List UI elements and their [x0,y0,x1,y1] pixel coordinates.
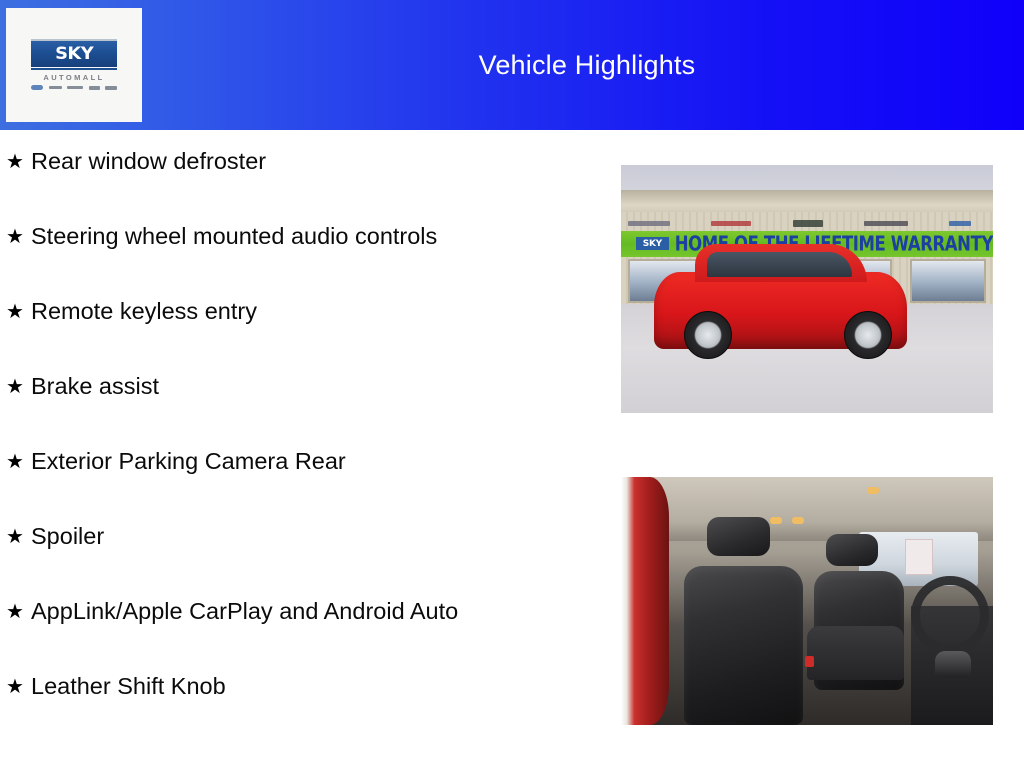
feature-label: Remote keyless entry [30,296,257,327]
vehicle-exterior-photo[interactable]: SKY HOME OF THE LIFETIME WARRANTY [621,165,993,413]
vehicle-interior-photo[interactable] [621,477,993,725]
star-icon: ★ [0,521,30,552]
automall-tagline: AUTOMALL [43,73,104,82]
star-icon: ★ [0,446,30,477]
list-item: ★ Spoiler [0,521,600,561]
star-icon: ★ [0,146,30,177]
seatbelt-buckle [805,656,814,667]
feature-label: Leather Shift Knob [30,671,226,702]
star-icon: ★ [0,596,30,627]
interior-driver-seat [684,566,803,725]
interior-window-sticker [905,539,933,575]
oem-brand-mark-5 [105,86,117,90]
feature-label: Spoiler [30,521,104,552]
page-title: Vehicle Highlights [150,0,1024,130]
star-icon: ★ [0,371,30,402]
feature-label: Brake assist [30,371,159,402]
interior-passenger-headrest [826,534,878,566]
page-header: Vehicle Highlights [0,0,1024,130]
star-icon: ★ [0,671,30,702]
star-icon: ★ [0,296,30,327]
photo-brand-ram [864,221,908,226]
star-icon: ★ [0,221,30,252]
showroom-window [910,259,985,303]
photo-brand-dodge [711,221,751,226]
photo-brand-sky [949,221,971,226]
interior-dome-light [792,517,804,524]
interior-driver-headrest [707,517,770,557]
list-item: ★ Exterior Parking Camera Rear [0,446,600,486]
interior-dome-light [770,517,782,524]
interior-center-console [807,626,904,681]
oem-brand-mark-2 [49,86,62,89]
oem-brand-strip [31,84,117,91]
photo-brand-chrysler [628,221,670,226]
interior-door-pillar [621,477,669,725]
oem-brand-mark-3 [67,86,83,89]
vehicle-side-windows [707,252,852,277]
oem-brand-mark-1 [31,85,43,90]
list-item: ★ Rear window defroster [0,146,600,186]
feature-label: Steering wheel mounted audio controls [30,221,437,252]
list-item: ★ Brake assist [0,371,600,411]
sky-logo-text: SKY [55,46,93,63]
sky-badge-underline [31,68,117,70]
interior-dome-light [867,487,879,494]
photo-brand-jeep [793,220,823,227]
dealer-logo-card[interactable]: SKY AUTOMALL [6,8,142,122]
list-item: ★ Steering wheel mounted audio controls [0,221,600,261]
feature-label: Exterior Parking Camera Rear [30,446,346,477]
sky-badge: SKY [31,39,117,67]
oem-brand-mark-4 [89,86,100,90]
photo-oem-brand-row [628,216,970,231]
banner-sky-logo: SKY [636,237,669,250]
vehicle-highlights-list: ★ Rear window defroster ★ Steering wheel… [0,146,600,711]
list-item: ★ AppLink/Apple CarPlay and Android Auto [0,596,600,636]
feature-label: AppLink/Apple CarPlay and Android Auto [30,596,458,627]
list-item: ★ Remote keyless entry [0,296,600,336]
feature-label: Rear window defroster [30,146,266,177]
dealer-logo: SKY AUTOMALL [26,39,122,91]
gear-shifter [935,651,971,677]
photo-building-roof [621,190,993,215]
steering-wheel [911,576,989,654]
list-item: ★ Leather Shift Knob [0,671,600,711]
